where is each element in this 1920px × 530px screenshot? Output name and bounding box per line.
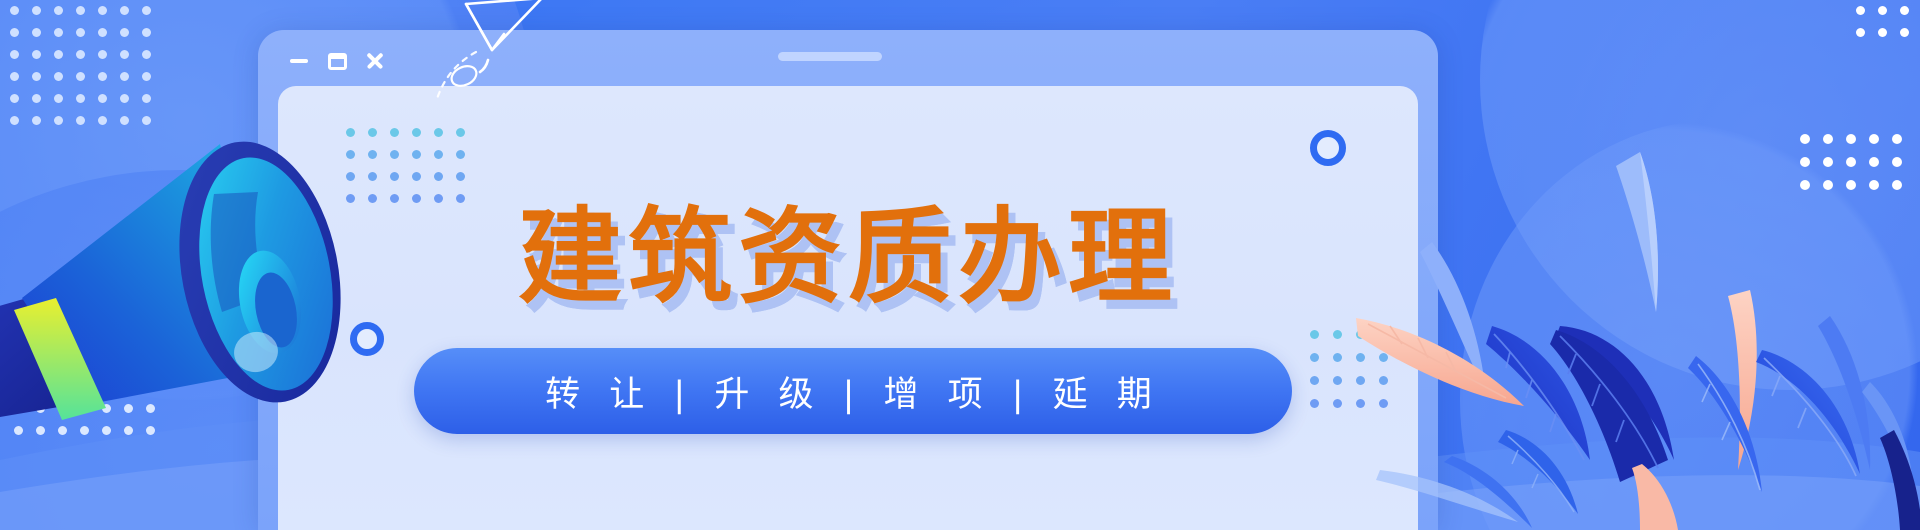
window-card: 建筑资质办理 转 让 | 升 级 | 增 项 | 延 期 [258,30,1438,530]
maximize-icon[interactable] [326,50,348,72]
circle-ring-left [350,322,384,356]
promo-banner: 建筑资质办理 转 让 | 升 级 | 增 项 | 延 期 [0,0,1920,530]
close-icon[interactable] [364,50,386,72]
dot-grid-top-right [1856,6,1920,50]
close-glyph [366,52,384,70]
subtitle-pill-button[interactable]: 转 让 | 升 级 | 增 项 | 延 期 [414,348,1292,434]
page-title: 建筑资质办理 [278,172,1418,323]
megaphone-icon [0,120,350,420]
dot-grid-top-left [10,6,164,138]
maximize-glyph [328,53,347,70]
minimize-glyph [290,59,308,63]
content-panel: 建筑资质办理 转 让 | 升 级 | 增 项 | 延 期 [278,86,1418,530]
subtitle-text: 转 让 | 升 级 | 增 项 | 延 期 [545,366,1161,417]
minimize-icon[interactable] [288,50,310,72]
paper-plane-icon [430,0,600,104]
foliage-illustration [1310,130,1920,530]
titlebar-tab-indicator [778,52,882,61]
